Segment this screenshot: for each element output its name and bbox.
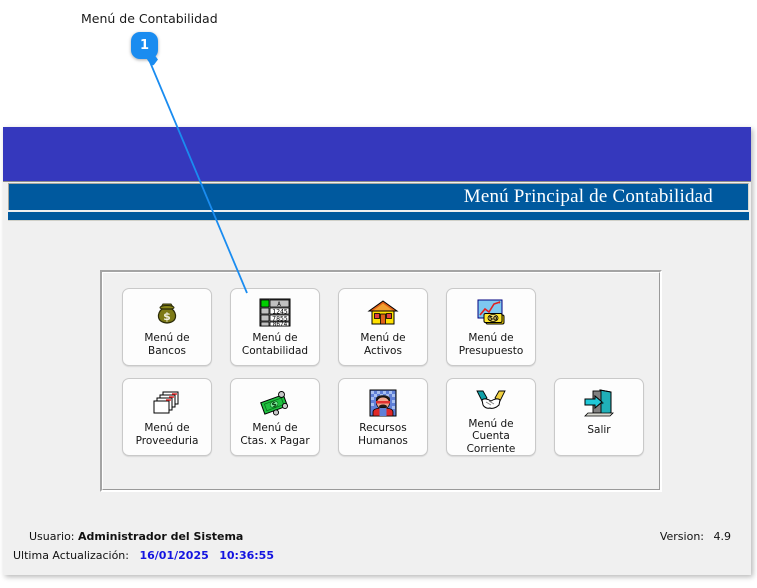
page-title: Menú Principal de Contabilidad xyxy=(464,186,748,208)
svg-text:8674: 8674 xyxy=(273,321,288,328)
banknote-coins-icon: $ xyxy=(258,387,292,419)
house-icon xyxy=(366,297,400,329)
title-underbar xyxy=(8,212,749,221)
screenshot-root: Menú de Contabilidad 1 Menú Principal de… xyxy=(0,0,757,588)
status-area: Usuario: Administrador del Sistema Ultim… xyxy=(3,525,751,575)
menu-button-label: Menú de Ctas. x Pagar xyxy=(240,422,309,447)
menu-button-label: Menú de Proveeduria xyxy=(136,422,199,447)
chart-money-icon: 50 xyxy=(474,297,508,329)
status-version: Version: 4.9 xyxy=(660,530,731,543)
menu-button-row-2: Menú de Proveeduria $ xyxy=(122,378,644,456)
svg-text:50: 50 xyxy=(489,315,497,322)
menu-button-ctas-x-pagar[interactable]: $ Menú de Ctas. x Pagar xyxy=(230,378,320,456)
status-update-time: 10:36:55 xyxy=(219,549,274,562)
person-portrait-icon xyxy=(366,387,400,419)
status-version-value: 4.9 xyxy=(714,530,732,543)
menu-button-activos[interactable]: Menú de Activos xyxy=(338,288,428,366)
status-version-label: Version: xyxy=(660,530,704,543)
status-update-date: 16/01/2025 xyxy=(139,549,208,562)
menu-button-salir[interactable]: Salir xyxy=(554,378,644,456)
status-user-label: Usuario: xyxy=(29,530,75,543)
title-bar: Menú Principal de Contabilidad xyxy=(8,183,749,210)
application-window: Menú Principal de Contabilidad $ xyxy=(3,127,751,575)
menu-button-grid: $ Menú de Bancos A xyxy=(122,288,644,456)
menu-button-label: Menú de Activos xyxy=(360,332,405,357)
menu-button-bancos[interactable]: $ Menú de Bancos xyxy=(122,288,212,366)
status-last-update: Ultima Actualización: 16/01/2025 10:36:5… xyxy=(13,549,274,562)
annotation-badge-1: 1 xyxy=(131,32,158,59)
menu-button-row-1: $ Menú de Bancos A xyxy=(122,288,644,366)
stacked-documents-icon xyxy=(150,387,184,419)
handshake-icon xyxy=(474,387,508,415)
menu-panel: $ Menú de Bancos A xyxy=(100,270,662,492)
spreadsheet-icon: A 1245 7855 8674 xyxy=(258,297,292,329)
menu-button-recursos-humanos[interactable]: Recursos Humanos xyxy=(338,378,428,456)
annotation-label: Menú de Contabilidad xyxy=(81,11,218,26)
header-band xyxy=(3,127,751,182)
menu-button-label: Menú de Presupuesto xyxy=(459,332,524,357)
menu-button-label: Recursos Humanos xyxy=(358,422,408,447)
money-bag-icon: $ xyxy=(150,297,184,329)
menu-button-label: Menú de Cuenta Corriente xyxy=(447,418,535,456)
status-user: Usuario: Administrador del Sistema xyxy=(29,530,243,543)
menu-button-proveeduria[interactable]: Menú de Proveeduria xyxy=(122,378,212,456)
status-user-name: Administrador del Sistema xyxy=(78,530,243,543)
menu-button-presupuesto[interactable]: 50 Menú de Presupuesto xyxy=(446,288,536,366)
menu-button-cuenta-corriente[interactable]: Menú de Cuenta Corriente xyxy=(446,378,536,456)
menu-button-label: Salir xyxy=(587,424,610,437)
svg-text:$: $ xyxy=(163,310,171,323)
exit-door-icon xyxy=(582,387,616,419)
menu-button-label: Menú de Contabilidad xyxy=(242,332,308,357)
menu-button-contabilidad[interactable]: A 1245 7855 8674 xyxy=(230,288,320,366)
status-update-label: Ultima Actualización: xyxy=(13,549,129,562)
menu-button-label: Menú de Bancos xyxy=(144,332,189,357)
